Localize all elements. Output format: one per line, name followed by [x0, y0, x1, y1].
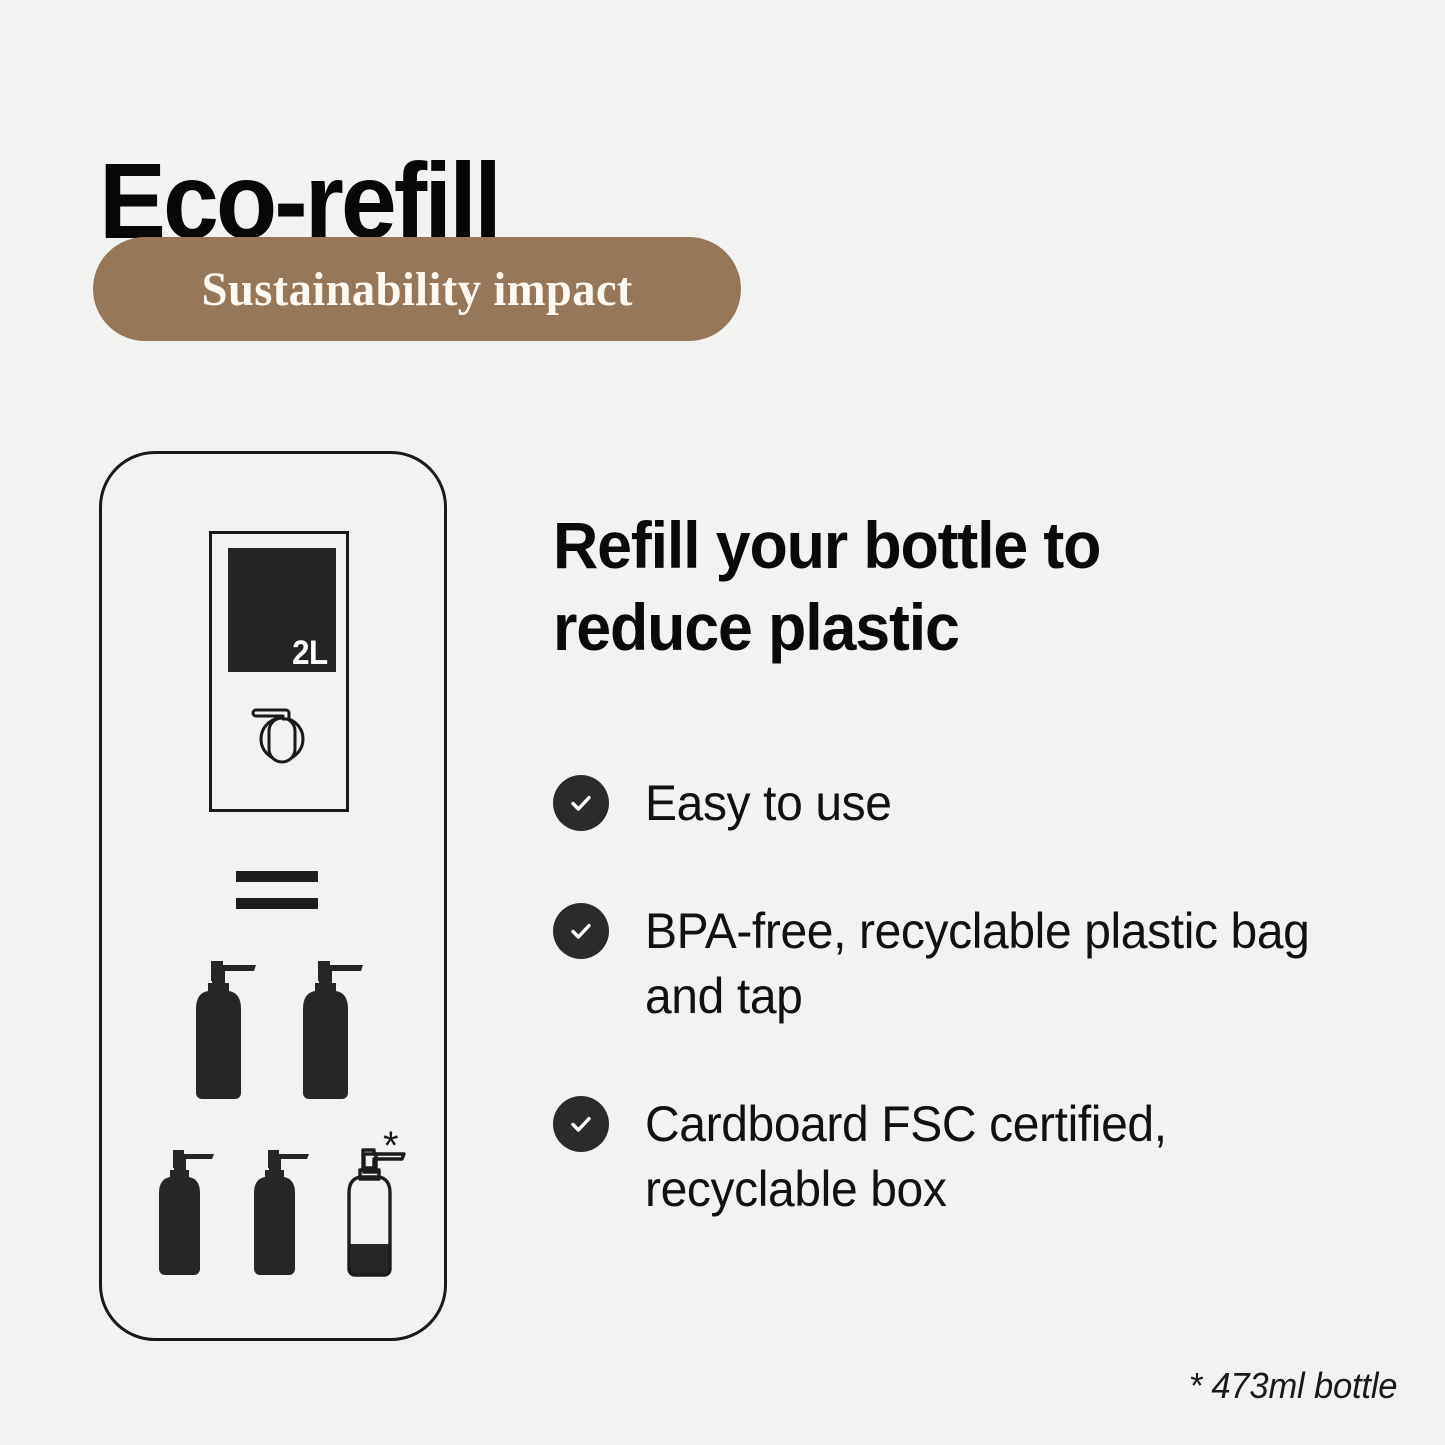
pump-bottle-filled — [151, 1143, 227, 1283]
footnote: * 473ml bottle — [1188, 1365, 1397, 1407]
asterisk-marker: * — [383, 1126, 399, 1166]
refill-box-illustration: 2L — [209, 531, 349, 812]
tap-icon — [242, 692, 322, 772]
equals-bar-top — [236, 871, 318, 882]
content-column: Refill your bottle to reduce plastic — [553, 505, 1383, 669]
section-headline: Refill your bottle to reduce plastic — [553, 505, 1247, 669]
bottle-row-bottom — [151, 1143, 417, 1283]
feature-label: BPA-free, recyclable plastic bag and tap — [645, 899, 1373, 1029]
pump-bottle-filled — [293, 953, 378, 1108]
feature-list: Easy to use BPA-free, recyclable plastic… — [553, 771, 1403, 1222]
refill-illustration-panel: 2L — [99, 451, 447, 1341]
badge-label: Sustainability impact — [201, 262, 632, 317]
check-icon — [553, 903, 609, 959]
feature-item: BPA-free, recyclable plastic bag and tap — [553, 899, 1403, 1029]
check-icon — [553, 1096, 609, 1152]
feature-label: Cardboard FSC certified, recyclable box — [645, 1092, 1373, 1222]
feature-label: Easy to use — [645, 771, 892, 836]
pump-bottle-filled — [246, 1143, 322, 1283]
equals-bar-bottom — [236, 898, 318, 909]
pump-bottle-outline-partial — [341, 1143, 417, 1283]
equals-symbol — [236, 871, 318, 909]
box-dark-panel: 2L — [228, 548, 336, 672]
check-icon — [553, 775, 609, 831]
infographic-page: Eco-refill Sustainability impact 2L — [0, 0, 1445, 1445]
feature-item: Easy to use — [553, 771, 1403, 836]
box-volume-label: 2L — [292, 636, 328, 670]
sustainability-impact-badge: Sustainability impact — [93, 237, 741, 341]
bottle-row-top — [186, 953, 378, 1108]
pump-bottle-filled — [186, 953, 271, 1108]
feature-item: Cardboard FSC certified, recyclable box — [553, 1092, 1403, 1222]
